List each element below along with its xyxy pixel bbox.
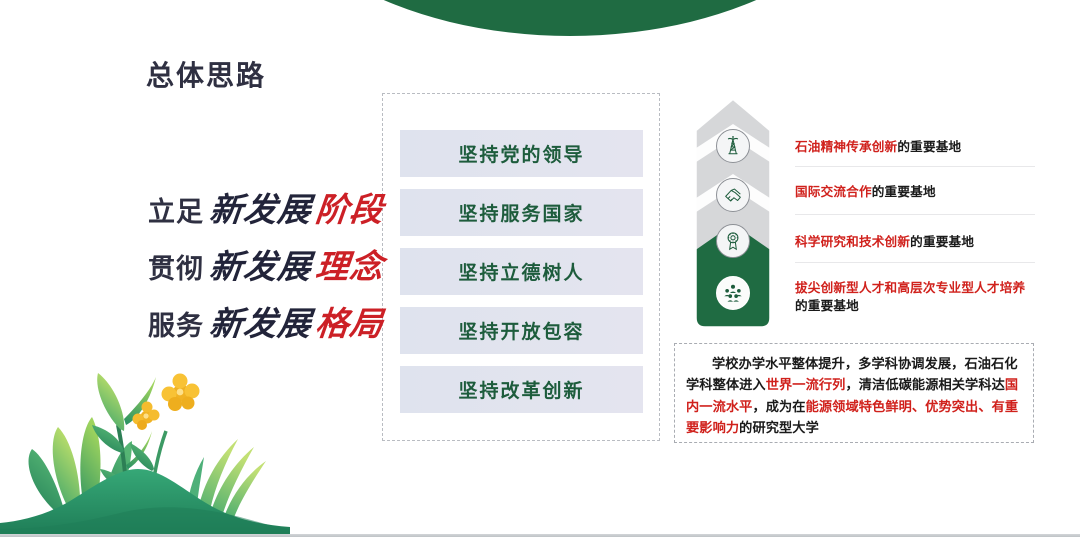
people-group-icon [722, 282, 744, 304]
summary-highlight: 世界一流行列 [766, 377, 846, 392]
principle-item[interactable]: 坚持立德树人 [400, 248, 643, 295]
medal-icon [722, 230, 744, 252]
slogan-line: 服务 新发展 格局 [148, 297, 384, 354]
summary-paragraph: 学校办学水平整体提升，多学科协调发展，石油石化学科整体进入世界一流行列，清洁低碳… [686, 353, 1022, 439]
oil-derrick-icon [722, 135, 744, 157]
slogan-middle: 新发展 [207, 183, 314, 231]
base-label-row: 国际交流合作的重要基地 [795, 183, 1035, 214]
chevron-tower-graphic [692, 96, 774, 330]
base-label-highlight: 国际交流合作 [795, 185, 872, 199]
flower-large [162, 374, 200, 412]
medal-icon-badge [716, 224, 750, 258]
principle-item[interactable]: 坚持服务国家 [400, 189, 643, 236]
base-label-suffix: 的重要基地 [897, 140, 961, 154]
slogan-line: 立足 新发展 阶段 [148, 183, 384, 240]
slogan-highlight: 阶段 [313, 183, 386, 231]
slogan-line: 贯彻 新发展 理念 [148, 240, 384, 297]
base-label-row: 石油精神传承创新的重要基地 [795, 138, 1035, 167]
bases-label-list: 石油精神传承创新的重要基地 国际交流合作的重要基地 科学研究和技术创新的重要基地… [795, 138, 1035, 333]
plant-illustration [0, 345, 290, 535]
base-label-row: 拔尖创新型人才和高层次专业型人才培养的重要基地 [795, 279, 1035, 325]
handshake-icon-badge [716, 178, 750, 212]
slogan-block: 立足 新发展 阶段 贯彻 新发展 理念 服务 新发展 格局 [148, 183, 384, 354]
principle-item[interactable]: 坚持开放包容 [400, 307, 643, 354]
slogan-middle: 新发展 [207, 240, 314, 288]
base-label-suffix: 的重要基地 [910, 235, 974, 249]
principles-list: 坚持党的领导 坚持服务国家 坚持立德树人 坚持开放包容 坚持改革创新 [400, 130, 643, 413]
page-title: 总体思路 [146, 54, 266, 94]
summary-segment: 的研究型大学 [739, 420, 819, 435]
people-group-icon-badge [716, 276, 750, 310]
summary-segment: ，清洁低碳能源相关学科达 [845, 377, 1004, 392]
handshake-icon [722, 184, 744, 206]
base-label-suffix: 的重要基地 [795, 299, 859, 313]
plant-decoration [0, 345, 290, 535]
slide-canvas: 总体思路 立足 新发展 阶段 贯彻 新发展 理念 服务 新发展 格局 坚持党的领… [0, 0, 1080, 537]
oil-derrick-icon-badge [716, 129, 750, 163]
slogan-prefix: 贯彻 [148, 247, 204, 286]
summary-segment: ，成为在 [752, 399, 805, 414]
base-label-highlight: 石油精神传承创新 [795, 140, 897, 154]
base-label-highlight: 科学研究和技术创新 [795, 235, 910, 249]
base-label-row: 科学研究和技术创新的重要基地 [795, 233, 1035, 263]
slogan-middle: 新发展 [207, 297, 314, 345]
base-label-highlight: 拔尖创新型人才和高层次专业型人才培养 [795, 281, 1025, 295]
slogan-highlight: 理念 [313, 240, 386, 288]
slogan-prefix: 服务 [148, 304, 204, 343]
summary-dashed-box: 学校办学水平整体提升，多学科协调发展，石油石化学科整体进入世界一流行列，清洁低碳… [674, 343, 1034, 443]
slogan-highlight: 格局 [313, 297, 386, 345]
top-green-arc-decoration [255, 0, 885, 36]
slogan-prefix: 立足 [148, 190, 204, 229]
principle-item[interactable]: 坚持党的领导 [400, 130, 643, 177]
base-label-suffix: 的重要基地 [872, 185, 936, 199]
principle-item[interactable]: 坚持改革创新 [400, 366, 643, 413]
